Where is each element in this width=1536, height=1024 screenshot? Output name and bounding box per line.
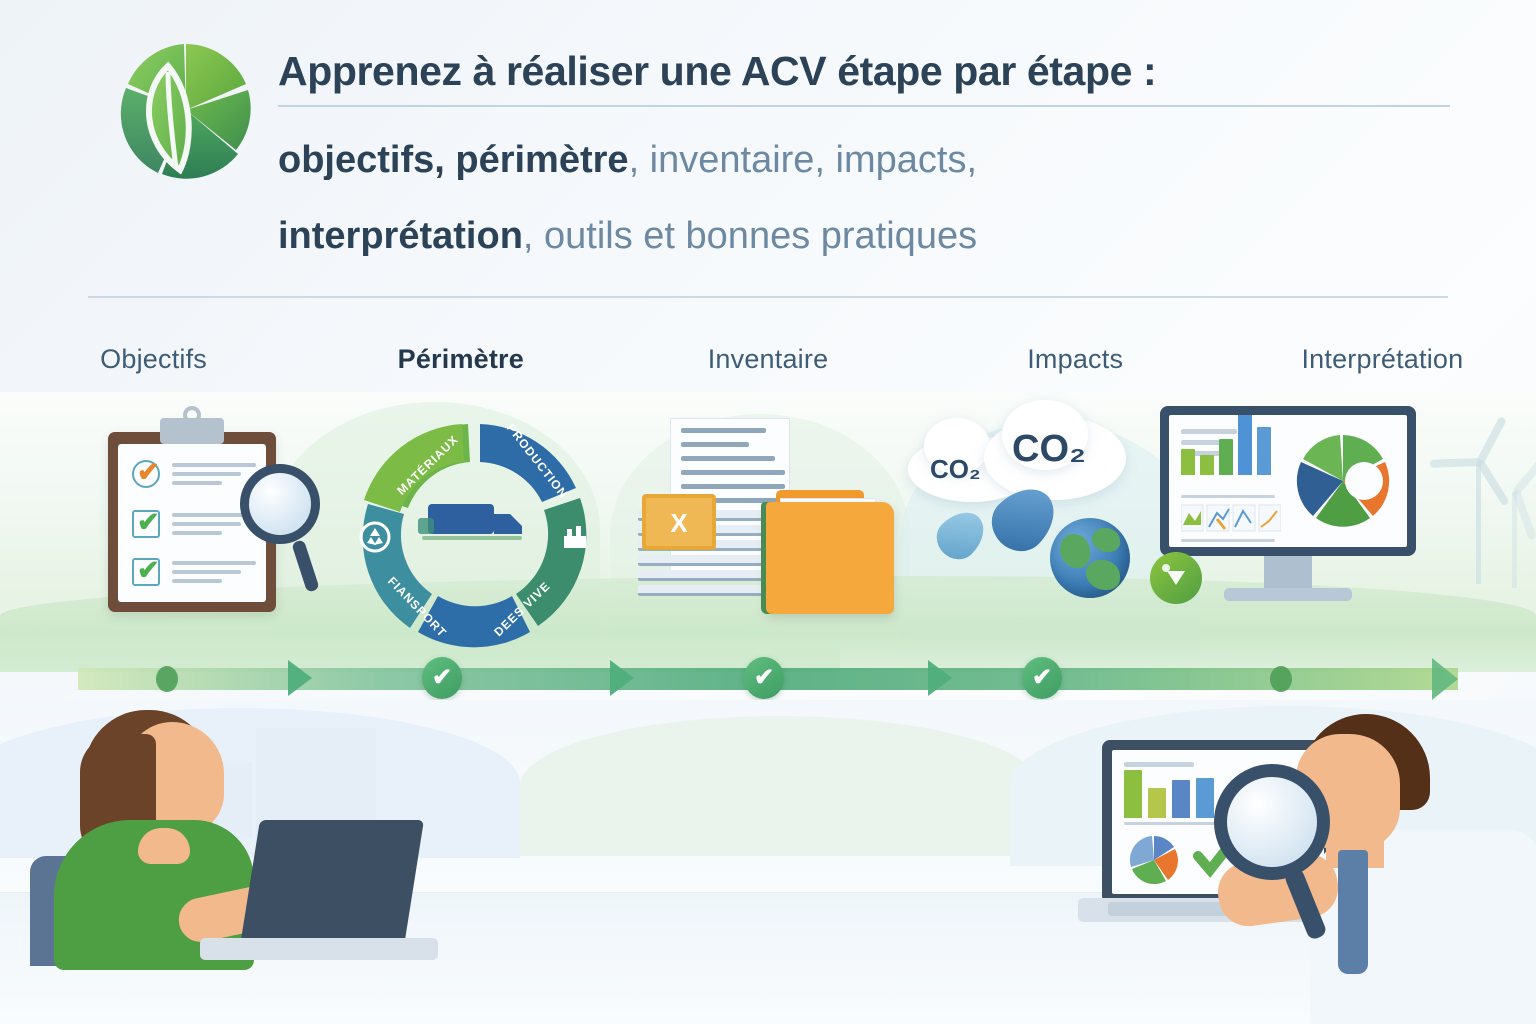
step-label-impacts[interactable]: Impacts: [922, 344, 1229, 388]
monitor-neck: [1264, 556, 1312, 590]
timeline-arrow: [288, 660, 312, 696]
progress-timeline: ✔ ✔ ✔: [0, 654, 1536, 702]
tie: [1338, 850, 1368, 974]
subtitle-line-2: interprétation, outils et bonnes pratiqu…: [278, 213, 1458, 259]
step-label-interpretation[interactable]: Interprétation: [1229, 344, 1536, 388]
folder-icon: [766, 502, 894, 614]
subtitle-rest-1: , inventaire, impacts,: [629, 139, 977, 181]
subtitle-rest-2: , outils et bonnes pratiques: [523, 215, 977, 257]
check-icon: ✔: [137, 458, 160, 486]
clipboard-ring: [183, 406, 201, 424]
title-block: Apprenez à réaliser une ACV étape par ét…: [278, 48, 1458, 260]
monitor-icon: [1160, 406, 1416, 556]
laptop-lid: [240, 820, 424, 946]
header: Apprenez à réaliser une ACV étape par ét…: [0, 0, 1536, 300]
clipboard-page: ✔ ✔ ✔: [118, 444, 266, 602]
recycle-icon: [358, 520, 392, 554]
step-label-objectifs[interactable]: Objectifs: [0, 344, 307, 388]
magnifying-glass-icon: [1214, 764, 1330, 880]
timeline-arrow: [610, 660, 634, 696]
monitor-screen: [1169, 415, 1407, 547]
lifecycle-ring-diagram: MATÉRIAUX PRODUCTION DEES VIVE FIANSPORT: [352, 410, 600, 658]
timeline-checkpoint-2[interactable]: ✔: [744, 657, 784, 699]
inventory-illustration: X: [628, 418, 908, 638]
step-label-inventaire[interactable]: Inventaire: [614, 344, 921, 388]
step-label-perimetre[interactable]: Périmètre: [307, 344, 614, 388]
checklist-item: ✔: [132, 510, 258, 544]
timeline-dot: [156, 666, 178, 692]
timeline-checkpoint-3[interactable]: ✔: [1022, 657, 1062, 699]
pie-chart-icon: [1126, 834, 1182, 886]
step-label-row: Objectifs Périmètre Inventaire Impacts I…: [0, 344, 1536, 388]
checklist-lines: [172, 561, 256, 588]
truck-icon: [414, 498, 536, 550]
monitor-base: [1224, 588, 1352, 601]
factory-icon: [558, 520, 592, 554]
illustration-band: ✔ ✔ ✔: [0, 392, 1536, 672]
check-icon: ✔: [137, 556, 160, 584]
page-title: Apprenez à réaliser une ACV étape par ét…: [278, 48, 1458, 95]
checklist-item: ✔: [132, 558, 258, 592]
subtitle-line-1: objectifs, périmètre, inventaire, impact…: [278, 137, 1458, 183]
checklist-item: ✔: [132, 460, 258, 494]
infographic-canvas: Apprenez à réaliser une ACV étape par ét…: [0, 0, 1536, 1024]
neck: [138, 828, 190, 864]
co2-label-small: CO₂: [930, 454, 981, 485]
recycle-badge-icon: [1150, 552, 1202, 604]
check-icon: ✔: [137, 508, 160, 536]
wind-turbine-icon: [1476, 462, 1481, 584]
timeline-arrow: [928, 660, 952, 696]
subtitle-emphasis-1: objectifs, périmètre: [278, 139, 629, 181]
leaf-pie-logo: [118, 40, 254, 180]
background-hill: [520, 716, 1040, 856]
timeline-checkpoint-1[interactable]: ✔: [422, 657, 462, 699]
mini-chart-icons: [1181, 503, 1281, 535]
spreadsheet-icon: X: [642, 494, 716, 550]
globe-icon: [1050, 518, 1130, 598]
header-divider: [88, 296, 1448, 298]
bottom-scene: [0, 700, 1536, 1024]
co2-label-large: CO₂: [1012, 428, 1086, 471]
donut-hole: [1345, 462, 1383, 500]
title-divider: [278, 105, 1450, 107]
timeline-dot: [1270, 666, 1292, 692]
timeline-arrow-head: [1432, 658, 1458, 700]
magnifying-glass-icon: [240, 464, 320, 544]
subtitle-emphasis-2: interprétation: [278, 215, 523, 257]
laptop-base: [200, 938, 438, 960]
